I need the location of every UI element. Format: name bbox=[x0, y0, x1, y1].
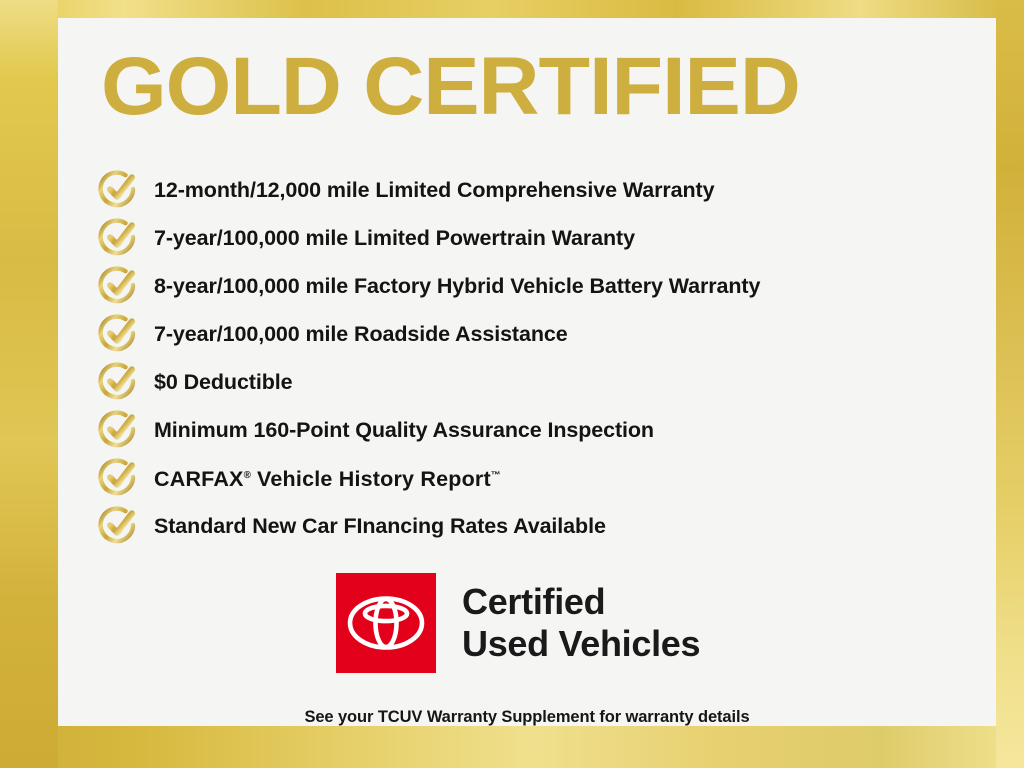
trademark-mark: ™ bbox=[491, 470, 501, 481]
content-card: GOLD CERTIFIED bbox=[58, 18, 996, 726]
list-item: CARFAX® Vehicle History Report™ bbox=[96, 454, 986, 502]
logo-line-1: Certified bbox=[462, 581, 700, 623]
list-item: 8-year/100,000 mile Factory Hybrid Vehic… bbox=[96, 262, 986, 310]
carfax-rest: Vehicle History Report bbox=[251, 468, 491, 492]
list-item-label: $0 Deductible bbox=[154, 370, 293, 394]
list-item: $0 Deductible bbox=[96, 358, 986, 406]
list-item-label: Standard New Car FInancing Rates Availab… bbox=[154, 514, 606, 538]
list-item: 12-month/12,000 mile Limited Comprehensi… bbox=[96, 166, 986, 214]
carfax-wordmark: CARFAX bbox=[154, 468, 244, 492]
check-circle-icon bbox=[96, 456, 142, 500]
check-circle-icon bbox=[96, 264, 142, 308]
list-item-label: Minimum 160-Point Quality Assurance Insp… bbox=[154, 418, 654, 442]
list-item-label: 8-year/100,000 mile Factory Hybrid Vehic… bbox=[154, 274, 760, 298]
logo-line-2: Used Vehicles bbox=[462, 623, 700, 665]
gold-certified-banner: GOLD CERTIFIED bbox=[0, 0, 1024, 768]
list-item: 7-year/100,000 mile Roadside Assistance bbox=[96, 310, 986, 358]
check-circle-icon bbox=[96, 168, 142, 212]
list-item-label: 12-month/12,000 mile Limited Comprehensi… bbox=[154, 178, 714, 202]
list-item: 7-year/100,000 mile Limited Powertrain W… bbox=[96, 214, 986, 262]
feature-list: 12-month/12,000 mile Limited Comprehensi… bbox=[96, 166, 986, 550]
list-item-label: 7-year/100,000 mile Roadside Assistance bbox=[154, 322, 568, 346]
list-item-label-carfax: CARFAX® Vehicle History Report™ bbox=[154, 464, 501, 491]
logo-wordmark: Certified Used Vehicles bbox=[462, 581, 700, 665]
check-circle-icon bbox=[96, 504, 142, 548]
gold-border-right bbox=[996, 0, 1024, 768]
list-item: Standard New Car FInancing Rates Availab… bbox=[96, 502, 986, 550]
list-item-label: 7-year/100,000 mile Limited Powertrain W… bbox=[154, 226, 635, 250]
toyota-logo-icon bbox=[336, 573, 436, 673]
registered-mark: ® bbox=[244, 470, 251, 481]
warranty-disclaimer: See your TCUV Warranty Supplement for wa… bbox=[58, 708, 996, 727]
check-circle-icon bbox=[96, 216, 142, 260]
check-circle-icon bbox=[96, 408, 142, 452]
check-circle-icon bbox=[96, 360, 142, 404]
gold-border-bottom bbox=[0, 720, 1024, 768]
gold-border-left bbox=[0, 0, 58, 768]
toyota-certified-used-vehicles-logo: Certified Used Vehicles bbox=[336, 573, 700, 673]
list-item: Minimum 160-Point Quality Assurance Insp… bbox=[96, 406, 986, 454]
page-title: GOLD CERTIFIED bbox=[101, 44, 987, 130]
check-circle-icon bbox=[96, 312, 142, 356]
